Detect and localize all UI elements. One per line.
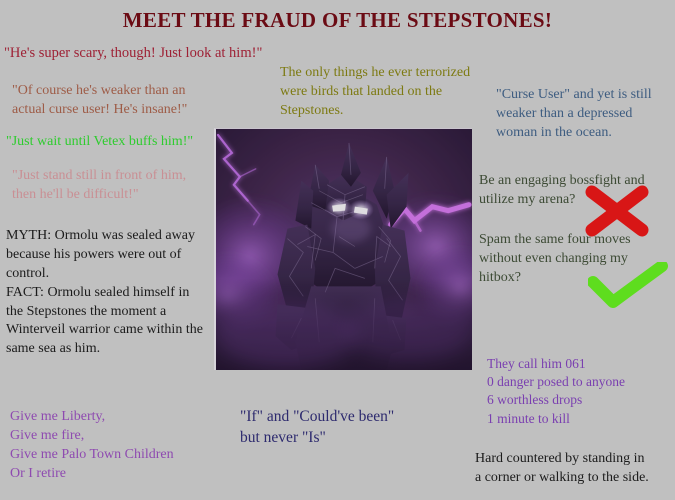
quote-vetex-buffs: "Just wait until Vetex buffs him!" (6, 133, 236, 152)
quote-weaker-than-curse-user: "Of course he's weaker than an actual cu… (12, 82, 222, 120)
green-check-icon (588, 262, 668, 308)
red-x-icon (583, 185, 651, 237)
quote-scary: "He's super scary, though! Just look at … (4, 44, 294, 64)
boss-illustration (216, 129, 472, 370)
page-title: MEET THE FRAUD OF THE STEPSTONES! (0, 9, 675, 32)
boss-screenshot (214, 128, 472, 370)
quote-stand-still: "Just stand still in front of him, then … (12, 167, 227, 205)
boss-stats-text: They call him 061 0 danger posed to anyo… (487, 355, 672, 428)
if-couldve-been-text: "If" and "Could've been" but never "Is" (240, 407, 480, 449)
myth-fact-text: MYTH: Ormolu was sealed away because his… (6, 227, 216, 359)
poster-canvas: MEET THE FRAUD OF THE STEPSTONES! "He's … (0, 0, 675, 500)
liberty-verse-text: Give me Liberty, Give me fire, Give me P… (10, 408, 230, 484)
terrorized-birds-text: The only things he ever terrorized were … (280, 64, 485, 121)
hard-countered-text: Hard countered by standing in a corner o… (475, 450, 675, 488)
curse-user-text: "Curse User" and yet is still weaker tha… (496, 86, 674, 143)
